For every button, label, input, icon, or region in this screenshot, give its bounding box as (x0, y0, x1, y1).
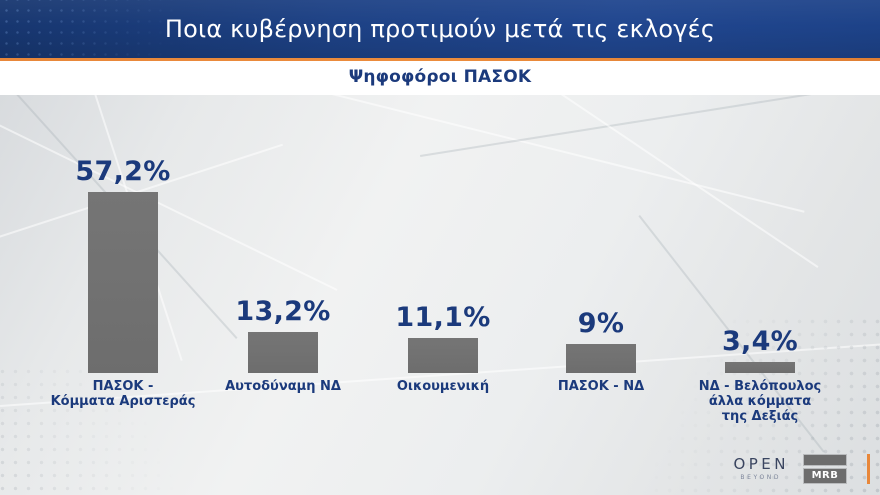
bar-rect (88, 192, 158, 373)
bar-category-label: ΠΑΣΟΚ - ΝΔ (511, 379, 691, 394)
bar-rect (248, 332, 318, 373)
logo-strip: OPEN BEYOND MRB (730, 449, 870, 489)
page-title: Ποια κυβέρνηση προτιμούν μετά τις εκλογέ… (0, 0, 880, 58)
bar-category-label: ΝΔ - Βελόπουλος άλλα κόμματα της Δεξιάς (670, 379, 850, 424)
open-logo-tagline: BEYOND (738, 475, 781, 481)
mrb-logo-word: MRB (803, 468, 847, 484)
bg-streak (0, 105, 337, 291)
bar-value-label: 9% (521, 308, 681, 339)
bar-value-label: 57,2% (43, 156, 203, 187)
bar-value-label: 13,2% (203, 296, 363, 327)
bar-value-label: 3,4% (680, 326, 840, 357)
mrb-logo-bar (803, 454, 847, 466)
bar-chart: 57,2% ΠΑΣΟΚ - Κόμματα Αριστεράς 13,2% Αυ… (0, 95, 880, 495)
bar-category-label: Αυτοδύναμη ΝΔ (193, 379, 373, 394)
bg-streak (519, 95, 819, 268)
bar-rect (408, 338, 478, 373)
mrb-accent-bar (867, 454, 870, 484)
bg-streak (300, 95, 805, 213)
open-beyond-logo: OPEN BEYOND (730, 457, 789, 481)
subtitle: Ψηφοφόροι ΠΑΣΟΚ (0, 61, 880, 95)
broadcast-poll-graphic: Ποια κυβέρνηση προτιμούν μετά τις εκλογέ… (0, 0, 880, 495)
bar-rect (725, 362, 795, 373)
mrb-logo: MRB (803, 454, 847, 484)
bar-category-label: ΠΑΣΟΚ - Κόμματα Αριστεράς (33, 379, 213, 409)
bar-value-label: 11,1% (363, 302, 523, 333)
bar-category-label: Οικουμενική (353, 379, 533, 394)
bar-rect (566, 344, 636, 373)
bg-streak (420, 95, 880, 157)
open-logo-word: OPEN (730, 457, 789, 472)
